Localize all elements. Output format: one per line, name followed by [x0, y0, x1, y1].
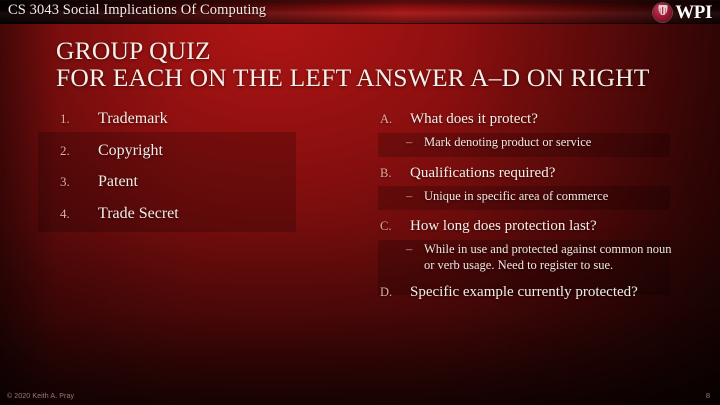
quiz-terms-list: 1. Trademark 2. Copyright 3. Patent 4. T… [56, 108, 316, 234]
list-item-trade-secret: 4. Trade Secret [56, 203, 316, 235]
slide-title-line-2: FOR EACH ON THE LEFT ANSWER A–D ON RIGHT [56, 64, 696, 91]
answer-detail-text: Mark denoting product or service [424, 135, 591, 149]
list-marker: 3. [60, 171, 86, 193]
answer-block-c: C. How long does protection last? – Whil… [376, 215, 676, 273]
list-item-trademark: 1. Trademark [56, 108, 316, 140]
spacer [376, 151, 676, 162]
copyright-notice: © 2020 Keith A. Pray [7, 393, 74, 400]
list-item-copyright: 2. Copyright [56, 140, 316, 172]
answer-question-text: Specific example currently protected? [410, 284, 638, 300]
answer-block-d: D. Specific example currently protected? [376, 281, 676, 303]
dash-bullet-icon: – [406, 242, 412, 258]
quiz-answers-list: A. What does it protect? – Mark denoting… [376, 108, 676, 303]
slide-canvas: CS 3043 Social Implications Of Computing… [0, 0, 720, 405]
dash-bullet-icon: – [406, 135, 412, 151]
answer-letter: A. [380, 108, 392, 130]
answer-detail-b: – Unique in specific area of commerce [376, 189, 676, 205]
spacer [376, 204, 676, 215]
answer-detail-a: – Mark denoting product or service [376, 135, 676, 151]
answer-letter: B. [380, 162, 391, 184]
spacer [376, 273, 676, 281]
slide-title: GROUP QUIZ FOR EACH ON THE LEFT ANSWER A… [56, 37, 696, 91]
wpi-seal-icon [653, 3, 672, 22]
course-title: CS 3043 Social Implications Of Computing [8, 2, 266, 19]
list-marker: 1. [60, 108, 86, 130]
dash-bullet-icon: – [406, 189, 412, 205]
wpi-logo: WPI [653, 1, 712, 23]
slide-header-bar: CS 3043 Social Implications Of Computing… [0, 0, 720, 24]
answer-question-text: How long does protection last? [410, 218, 597, 234]
list-item-label: Patent [98, 173, 138, 190]
answer-detail-text: While in use and protected against commo… [424, 242, 672, 272]
answer-question-text: Qualifications required? [410, 165, 555, 181]
answer-block-a: A. What does it protect? – Mark denoting… [376, 108, 676, 151]
answer-question-d: D. Specific example currently protected? [376, 281, 676, 303]
answer-question-a: A. What does it protect? [376, 108, 676, 130]
slide-page-number: 8 [706, 391, 710, 400]
answer-question-c: C. How long does protection last? [376, 215, 676, 237]
list-marker: 4. [60, 203, 86, 225]
list-item-label: Trade Secret [98, 205, 179, 222]
answer-block-b: B. Qualifications required? – Unique in … [376, 162, 676, 205]
answer-letter: C. [380, 215, 391, 237]
list-item-patent: 3. Patent [56, 171, 316, 203]
wpi-wordmark: WPI [675, 3, 712, 22]
answer-detail-c: – While in use and protected against com… [376, 242, 676, 273]
answer-question-text: What does it protect? [410, 111, 538, 127]
answer-detail-text: Unique in specific area of commerce [424, 189, 608, 203]
answer-question-b: B. Qualifications required? [376, 162, 676, 184]
list-item-label: Trademark [98, 110, 168, 127]
list-item-label: Copyright [98, 142, 163, 159]
slide-title-line-1: GROUP QUIZ [56, 37, 696, 64]
answer-letter: D. [380, 281, 392, 303]
list-marker: 2. [60, 140, 86, 162]
